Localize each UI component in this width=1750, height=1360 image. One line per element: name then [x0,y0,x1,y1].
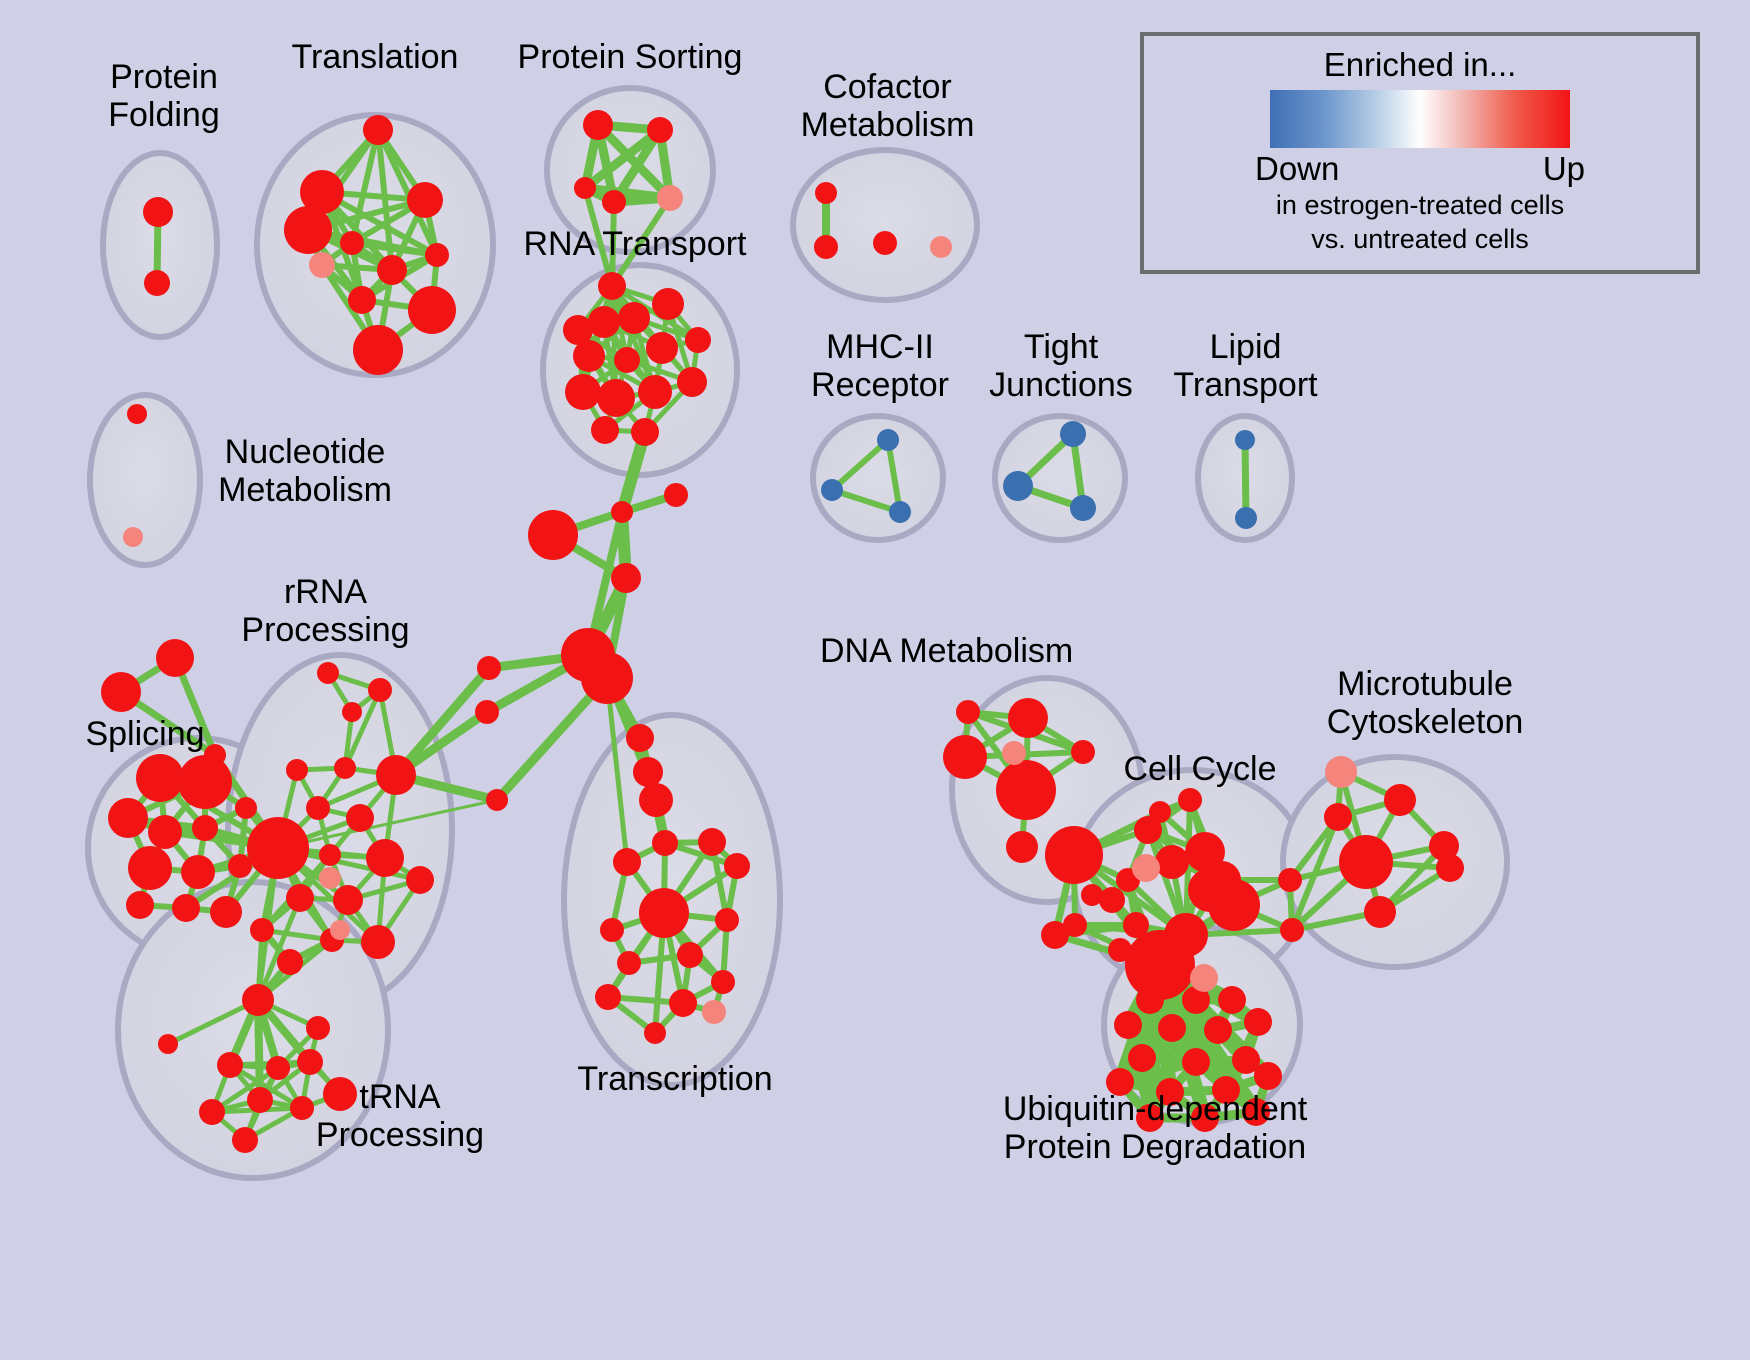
legend-low-label: Down [1255,150,1339,188]
legend-high-label: Up [1543,150,1585,188]
legend-subtitle-line2: vs. untreated cells [1311,224,1529,256]
legend-subtitle-line1: in estrogen-treated cells [1276,190,1564,222]
hull-nucleotide [90,395,200,565]
enrichment-map-canvas: Protein Folding Translation Protein Sort… [0,0,1750,1360]
legend-title: Enriched in... [1324,46,1517,84]
hull-cofactor [793,150,977,300]
legend-color-gradient [1270,90,1570,148]
legend-panel: Enriched in... Down Up in estrogen-treat… [1140,32,1700,274]
legend-endpoint-labels: Down Up [1255,150,1585,188]
hull-mhcii [813,416,943,540]
